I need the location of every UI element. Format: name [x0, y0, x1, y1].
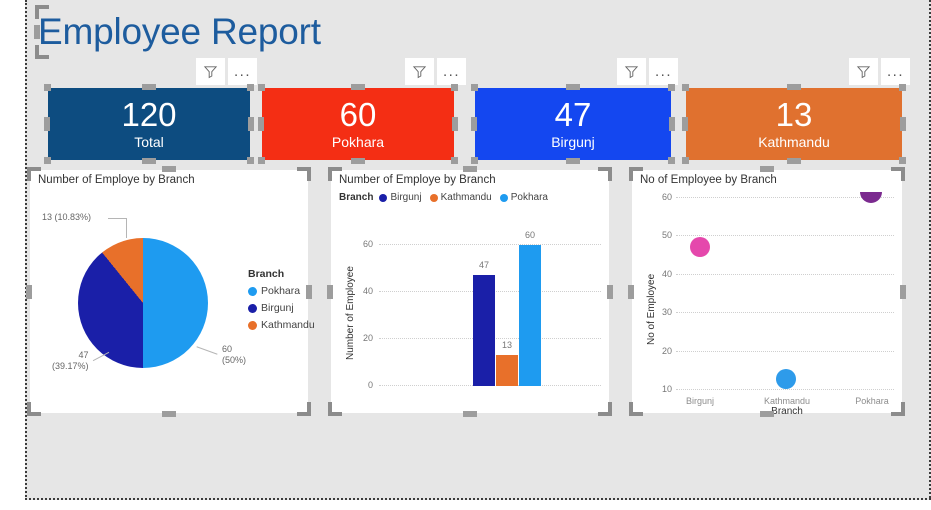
filter-funnel-icon [412, 64, 427, 79]
legend-dot-icon-kathmandu [248, 321, 257, 330]
scatter-y-tick-20: 20 [650, 346, 672, 356]
selection-handle-top-left[interactable] [471, 84, 478, 91]
pie-legend-title: Branch [248, 268, 315, 280]
bar-legend: Branch Birgunj Kathmandu Pokhara [339, 192, 552, 203]
pie-legend-item-pokhara[interactable]: Pokhara [248, 285, 315, 297]
selection-handle-top-middle[interactable] [142, 84, 156, 90]
bar-plot-area[interactable]: 47 13 60 [379, 230, 601, 386]
kpi-value-pokhara: 60 [340, 97, 377, 133]
more-options-ellipsis-icon: ... [234, 67, 251, 77]
pie-label-kathmandu: 13 (10.83%) [42, 212, 91, 223]
kpi-label-kathmandu: Kathmandu [758, 133, 830, 151]
legend-dot-icon-pokhara [248, 287, 257, 296]
pie-legend-label-birgunj: Birgunj [261, 302, 294, 314]
pie-label-birgunj-value: 47 [74, 350, 89, 361]
card-header-total: ... [196, 58, 257, 85]
selection-handle-left-middle[interactable] [682, 117, 688, 131]
selection-bracket-bottom-right [891, 402, 905, 416]
kpi-label-birgunj: Birgunj [551, 133, 595, 151]
selection-handle-bottom-middle[interactable] [351, 158, 365, 164]
card-header-kathmandu: ... [849, 58, 910, 85]
filter-button-total[interactable] [196, 58, 225, 85]
filter-funnel-icon [203, 64, 218, 79]
selection-bracket-bottom-left [27, 402, 41, 416]
pie-chart-title: Number of Employe by Branch [38, 174, 195, 186]
filter-button-kathmandu[interactable] [849, 58, 878, 85]
scatter-x-tick-kathmandu: Kathmandu [764, 396, 810, 406]
selection-bracket-top-left [27, 167, 41, 181]
selection-handle-right-middle[interactable] [306, 285, 312, 299]
bar-chart-title: Number of Employe by Branch [339, 174, 496, 186]
selection-handle-right-middle[interactable] [669, 117, 675, 131]
selection-handle-right-middle[interactable] [607, 285, 613, 299]
selection-handle-top-right[interactable] [451, 84, 458, 91]
report-title-container[interactable]: Employee Report [38, 8, 328, 56]
gridline-20 [676, 351, 894, 352]
bar-legend-item-kathmandu[interactable]: Kathmandu [430, 192, 492, 203]
selection-bracket-top-left [35, 5, 49, 19]
pie-legend-item-birgunj[interactable]: Birgunj [248, 302, 315, 314]
selection-handle-left-middle[interactable] [44, 117, 50, 131]
pie-legend-item-kathmandu[interactable]: Kathmandu [248, 319, 315, 331]
selection-bracket-bottom-left [328, 402, 342, 416]
selection-handle-bottom-middle[interactable] [566, 158, 580, 164]
selection-handle-right-middle[interactable] [248, 117, 254, 131]
bar-legend-item-birgunj[interactable]: Birgunj [379, 192, 421, 203]
bar-legend-label-kathmandu: Kathmandu [441, 192, 492, 203]
selection-handle-bottom-left[interactable] [44, 157, 51, 164]
selection-handle-top-middle[interactable] [463, 166, 477, 172]
bar-birgunj[interactable] [473, 275, 495, 386]
selection-handle-right-middle[interactable] [900, 285, 906, 299]
selection-handle-bottom-right[interactable] [668, 157, 675, 164]
legend-dot-icon-birgunj [248, 304, 257, 313]
card-header-birgunj: ... [617, 58, 678, 85]
pie-leader-pokhara [196, 346, 217, 354]
bar-chart-visual[interactable]: Number of Employe by Branch Branch Birgu… [331, 170, 609, 413]
scatter-x-tick-birgunj: Birgunj [686, 396, 714, 406]
scatter-x-axis-title: Branch [771, 406, 803, 417]
pie-label-pokhara-pct: (50%) [222, 355, 246, 366]
pie-label-pokhara-value: 60 [222, 344, 246, 355]
kpi-label-total: Total [134, 133, 164, 151]
more-options-ellipsis-icon: ... [443, 67, 460, 77]
selection-handle-left-middle[interactable] [26, 285, 32, 299]
pie-chart-graphic[interactable] [78, 238, 208, 368]
selection-handle-bottom-middle[interactable] [760, 411, 774, 417]
scatter-y-tick-10: 10 [650, 384, 672, 394]
selection-handle-bottom-middle[interactable] [463, 411, 477, 417]
more-options-button-pokhara[interactable]: ... [437, 58, 466, 85]
bar-value-kathmandu: 13 [502, 340, 512, 350]
more-options-button-total[interactable]: ... [228, 58, 257, 85]
filter-funnel-icon [856, 64, 871, 79]
selection-bracket-top-right [598, 167, 612, 181]
selection-handle-top-right[interactable] [899, 84, 906, 91]
selection-handle-top-middle[interactable] [787, 84, 801, 90]
selection-handle-bottom-left[interactable] [258, 157, 265, 164]
selection-handle-left-middle[interactable] [34, 25, 40, 39]
selection-handle-top-middle[interactable] [566, 84, 580, 90]
more-options-ellipsis-icon: ... [887, 67, 904, 77]
kpi-card-pokhara[interactable]: 60 Pokhara [262, 88, 454, 160]
selection-handle-left-middle[interactable] [628, 285, 634, 299]
pie-legend-label-pokhara: Pokhara [261, 285, 300, 297]
gridline-10 [676, 389, 894, 390]
selection-handle-top-right[interactable] [247, 84, 254, 91]
legend-dot-icon-birgunj [379, 194, 387, 202]
filter-button-birgunj[interactable] [617, 58, 646, 85]
bar-pokhara[interactable] [519, 245, 541, 386]
bar-legend-item-pokhara[interactable]: Pokhara [500, 192, 548, 203]
selection-bracket-bottom-right [598, 402, 612, 416]
scatter-y-tick-30: 30 [650, 307, 672, 317]
selection-handle-bottom-middle[interactable] [162, 411, 176, 417]
selection-handle-bottom-middle[interactable] [787, 158, 801, 164]
bar-value-pokhara: 60 [525, 230, 535, 240]
bar-y-tick-20: 20 [351, 333, 373, 343]
gridline-30 [676, 312, 894, 313]
pie-leader-kathmandu-h [108, 218, 127, 219]
card-header-pokhara: ... [405, 58, 466, 85]
selection-bracket-top-left [629, 167, 643, 181]
scatter-chart-visual[interactable]: No of Employee by Branch No of Employee … [632, 170, 902, 413]
kpi-value-total: 120 [121, 97, 176, 133]
legend-dot-icon-kathmandu [430, 194, 438, 202]
legend-dot-icon-pokhara [500, 194, 508, 202]
selection-handle-top-right[interactable] [668, 84, 675, 91]
pie-label-birgunj-pct: (39.17%) [52, 361, 89, 372]
selection-handle-top-middle[interactable] [162, 166, 176, 172]
pie-legend-label-kathmandu: Kathmandu [261, 319, 315, 331]
selection-bracket-bottom-left [35, 45, 49, 59]
selection-handle-bottom-right[interactable] [899, 157, 906, 164]
selection-handle-top-middle[interactable] [351, 84, 365, 90]
filter-funnel-icon [624, 64, 639, 79]
selection-handle-left-middle[interactable] [471, 117, 477, 131]
selection-handle-top-left[interactable] [44, 84, 51, 91]
bar-value-birgunj: 47 [479, 260, 489, 270]
pie-chart-visual[interactable]: Number of Employe by Branch 13 (10.83%) … [30, 170, 308, 413]
selection-handle-top-left[interactable] [682, 84, 689, 91]
selection-handle-bottom-right[interactable] [247, 157, 254, 164]
kpi-card-total[interactable]: 120 Total [48, 88, 250, 160]
selection-handle-right-middle[interactable] [452, 117, 458, 131]
scatter-y-tick-40: 40 [650, 269, 672, 279]
selection-handle-left-middle[interactable] [327, 285, 333, 299]
bar-kathmandu[interactable] [496, 355, 518, 386]
gridline-40 [676, 274, 894, 275]
selection-bracket-bottom-left [629, 402, 643, 416]
bar-y-tick-0: 0 [351, 380, 373, 390]
scatter-y-tick-50: 50 [650, 230, 672, 240]
selection-handle-bottom-left[interactable] [471, 157, 478, 164]
scatter-point-pokhara[interactable] [860, 192, 882, 203]
scatter-point-kathmandu[interactable] [776, 369, 796, 389]
kpi-card-kathmandu[interactable]: 13 Kathmandu [686, 88, 902, 160]
bar-y-tick-60: 60 [351, 239, 373, 249]
gridline-50 [676, 235, 894, 236]
selection-handle-top-middle[interactable] [760, 166, 774, 172]
selection-bracket-top-right [297, 167, 311, 181]
selection-handle-left-middle[interactable] [258, 117, 264, 131]
pie-legend: Branch Pokhara Birgunj Kathmandu [248, 268, 315, 336]
gridline-60 [379, 244, 601, 245]
scatter-y-tick-60: 60 [650, 192, 672, 202]
scatter-x-tick-pokhara: Pokhara [855, 396, 889, 406]
bar-y-tick-40: 40 [351, 286, 373, 296]
selection-bracket-top-left [328, 167, 342, 181]
selection-handle-right-middle[interactable] [900, 117, 906, 131]
more-options-ellipsis-icon: ... [655, 67, 672, 77]
kpi-card-birgunj[interactable]: 47 Birgunj [475, 88, 671, 160]
selection-handle-bottom-right[interactable] [451, 157, 458, 164]
pie-leader-kathmandu [126, 218, 127, 238]
kpi-value-kathmandu: 13 [776, 97, 813, 133]
more-options-button-kathmandu[interactable]: ... [881, 58, 910, 85]
selection-handle-top-left[interactable] [258, 84, 265, 91]
more-options-button-birgunj[interactable]: ... [649, 58, 678, 85]
kpi-label-pokhara: Pokhara [332, 133, 384, 151]
power-bi-report-view: Employee Report ... ... ... [0, 0, 931, 510]
scatter-plot-area[interactable] [676, 192, 894, 394]
bar-y-axis-title: Number of Employee [345, 266, 356, 360]
pie-label-pokhara: 60 (50%) [222, 344, 246, 366]
bar-legend-label-pokhara: Pokhara [511, 192, 548, 203]
scatter-point-birgunj[interactable] [690, 237, 710, 257]
bar-legend-label-birgunj: Birgunj [390, 192, 421, 203]
selection-bracket-top-right [891, 167, 905, 181]
scatter-chart-title: No of Employee by Branch [640, 174, 777, 186]
filter-button-pokhara[interactable] [405, 58, 434, 85]
bar-legend-title: Branch [339, 192, 373, 203]
selection-bracket-bottom-right [297, 402, 311, 416]
page-title: Employee Report [38, 8, 328, 56]
selection-handle-bottom-left[interactable] [682, 157, 689, 164]
pie-label-birgunj: 47 (39.17%) [52, 350, 89, 372]
kpi-value-birgunj: 47 [555, 97, 592, 133]
selection-handle-bottom-middle[interactable] [142, 158, 156, 164]
